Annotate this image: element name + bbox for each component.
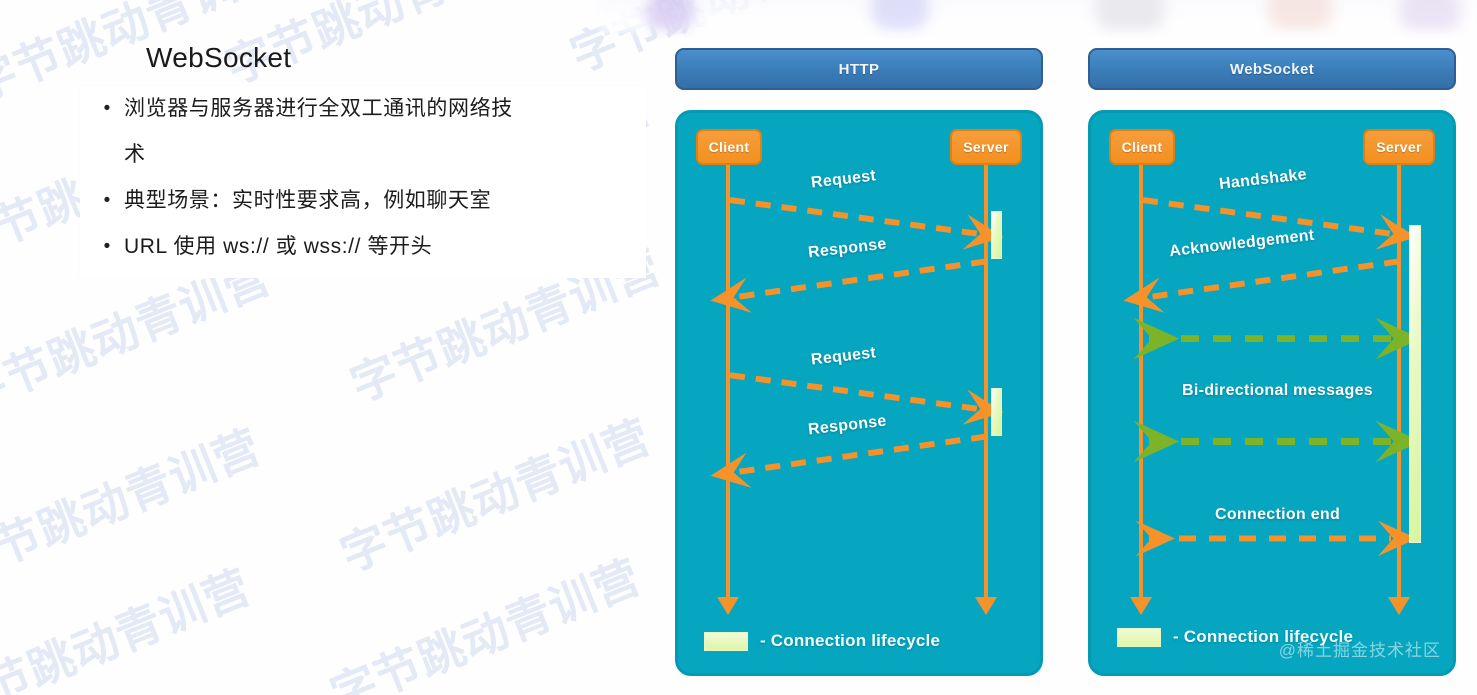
- server-node-label: Server: [1376, 139, 1421, 155]
- websocket-handshake-arrow: [1143, 200, 1391, 234]
- site-watermark: @稀土掘金技术社区: [1279, 636, 1441, 661]
- websocket-message-label: Connection end: [1215, 506, 1340, 524]
- list-item-label: 浏览器与服务器进行全双工通讯的网络技: [124, 86, 513, 132]
- http-message-arrows: [678, 113, 1040, 673]
- bullet-dot-icon: •: [90, 224, 124, 270]
- websocket-acknowledgement-arrow: [1149, 261, 1399, 297]
- http-legend: - Connection lifecycle: [704, 631, 940, 651]
- watermark-text: 字节跳动青训营: [330, 401, 660, 585]
- list-item-label: 术: [124, 132, 146, 178]
- page-title: WebSocket: [146, 42, 291, 74]
- server-node: Server: [1363, 129, 1435, 165]
- diagram-http: HTTP Client Server: [675, 48, 1043, 676]
- http-request-arrow-2: [730, 375, 978, 409]
- client-node-label: Client: [709, 139, 750, 155]
- list-item: • 浏览器与服务器进行全双工通讯的网络技: [80, 86, 646, 132]
- bullet-card: • 浏览器与服务器进行全双工通讯的网络技 术 • 典型场景：实时性要求高，例如聊…: [80, 86, 646, 278]
- client-node: Client: [1109, 129, 1175, 165]
- diagram-websocket-body: Client Server: [1088, 110, 1456, 676]
- bullet-dot-icon: •: [90, 178, 124, 224]
- server-node-label: Server: [963, 139, 1008, 155]
- diagram-websocket-header: WebSocket: [1088, 48, 1456, 90]
- lifecycle-swatch-icon: [1117, 628, 1161, 647]
- list-item-label: 典型场景：实时性要求高，例如聊天室: [124, 178, 491, 224]
- client-node-label: Client: [1122, 139, 1163, 155]
- blurred-video-strip: [600, 0, 1477, 30]
- http-response-arrow-2: [736, 437, 986, 473]
- websocket-message-label: Bi-directional messages: [1182, 382, 1373, 400]
- server-node: Server: [950, 129, 1022, 165]
- watermark-text: 字节跳动青训营: [320, 541, 650, 695]
- connection-lifecycle-bar: [991, 388, 1002, 436]
- http-response-arrow-1: [736, 261, 986, 297]
- watermark-text: 字节跳动青训营: [0, 551, 259, 695]
- list-item-continuation: 术: [80, 132, 646, 178]
- list-item: • URL 使用 ws:// 或 wss:// 等开头: [80, 224, 646, 270]
- diagram-websocket-header-label: WebSocket: [1230, 61, 1314, 78]
- bullet-dot-icon: •: [90, 86, 124, 132]
- diagram-websocket: WebSocket Client Server: [1088, 48, 1456, 676]
- connection-lifecycle-bar: [1409, 225, 1421, 543]
- diagram-http-body: Client Server: [675, 110, 1043, 676]
- slide-canvas: 字节跳动青训营 字节跳动青训营 字节跳动青训营 字节跳动青训营 字节跳动青训营 …: [0, 0, 1477, 695]
- watermark-text: 字节跳动青训营: [0, 411, 269, 595]
- diagram-http-header-label: HTTP: [839, 61, 880, 78]
- lifecycle-swatch-icon: [704, 632, 748, 651]
- list-item-label: URL 使用 ws:// 或 wss:// 等开头: [124, 224, 432, 270]
- connection-lifecycle-bar: [991, 211, 1002, 259]
- http-request-arrow-1: [730, 200, 978, 234]
- http-legend-label: - Connection lifecycle: [760, 631, 940, 651]
- list-item: • 典型场景：实时性要求高，例如聊天室: [80, 178, 646, 224]
- client-node: Client: [696, 129, 762, 165]
- bullet-list: • 浏览器与服务器进行全双工通讯的网络技 术 • 典型场景：实时性要求高，例如聊…: [80, 86, 646, 270]
- diagram-http-header: HTTP: [675, 48, 1043, 90]
